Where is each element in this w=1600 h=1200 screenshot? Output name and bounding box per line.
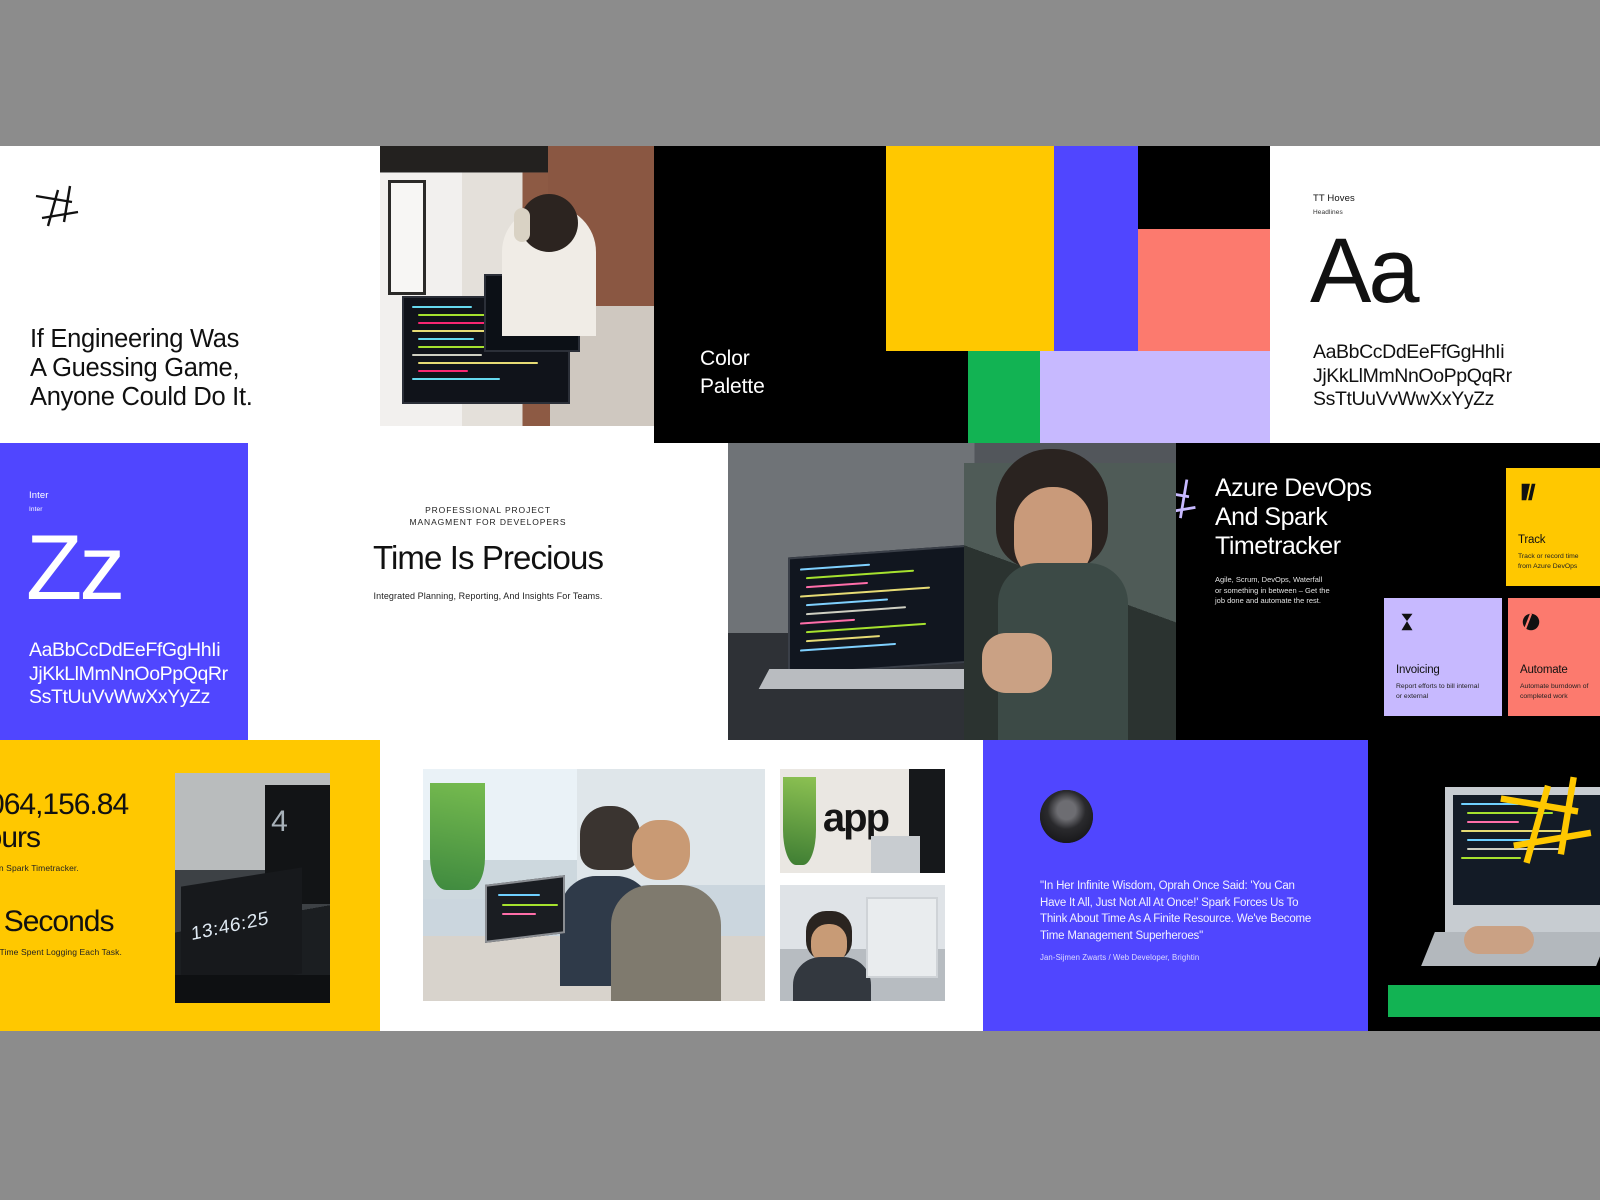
eyebrow-line-2: MANAGMENT FOR DEVELOPERS xyxy=(338,517,638,529)
stat-caption-hours: Logged In Spark Timetracker. xyxy=(0,863,195,873)
photo-man-imac xyxy=(780,885,945,1001)
photo-laptop-developer xyxy=(728,443,1176,740)
azure-title-line-1: Azure DevOps xyxy=(1215,474,1465,503)
photo-office xyxy=(380,146,654,443)
feature-card-desc: Report efforts to bill internal or exter… xyxy=(1396,682,1490,701)
eyebrow-line-1: PROFESSIONAL PROJECT xyxy=(338,505,638,517)
feature-card-desc: Automate burndown of completed work xyxy=(1520,682,1600,701)
time-is-precious-panel: PROFESSIONAL PROJECT MANAGMENT FOR DEVEL… xyxy=(248,443,728,740)
app-wall-text: app xyxy=(823,796,888,841)
avatar xyxy=(1040,790,1093,843)
swatch-yellow xyxy=(886,146,1054,351)
typography-panel-hoves: TT Hoves Headlines Aa AaBbCcDdEeFfGgHhIi… xyxy=(1270,146,1600,443)
headline-panel: If Engineering Was A Guessing Game, Anyo… xyxy=(0,146,380,443)
palette-title-line-1: Color xyxy=(700,345,765,373)
font-specimen: Aa xyxy=(1310,228,1417,314)
font-specimen: Zz xyxy=(26,525,122,611)
stat-seconds-unit: Seconds xyxy=(4,905,114,938)
track-slash-icon xyxy=(1518,481,1540,503)
headline-line-2: A Guessing Game, xyxy=(30,354,360,383)
color-palette-panel: Color Palette xyxy=(654,146,1270,443)
stat-unit-hours: Hours xyxy=(0,821,195,854)
section-subtitle: Integrated Planning, Reporting, And Insi… xyxy=(338,591,638,601)
feature-card-title: Track xyxy=(1518,534,1600,546)
page-title: If Engineering Was A Guessing Game, Anyo… xyxy=(30,325,360,412)
spark-asterisk-logo-lavender xyxy=(1176,471,1204,531)
font-name: Inter xyxy=(29,490,49,501)
font-usage: Headlines xyxy=(1313,209,1355,216)
azure-title-line-3: Timetracker xyxy=(1215,532,1465,561)
palette-title: Color Palette xyxy=(700,345,765,401)
feature-card-track[interactable]: Track Track or record time from Azure De… xyxy=(1506,468,1600,586)
palette-title-line-2: Palette xyxy=(700,373,765,401)
headline-line-1: If Engineering Was xyxy=(30,325,360,354)
feature-card-invoicing[interactable]: Invoicing Report efforts to bill interna… xyxy=(1384,598,1502,716)
testimonial-quote: "In Her Infinite Wisdom, Oprah Once Said… xyxy=(1040,878,1320,944)
swatch-coral xyxy=(1138,229,1270,351)
feature-card-title: Automate xyxy=(1520,664,1600,676)
photo-app-sign: app xyxy=(780,769,945,873)
feature-card-automate[interactable]: Automate Automate burndown of completed … xyxy=(1508,598,1600,716)
feature-card-desc: Track or record time from Azure DevOps xyxy=(1518,552,1600,571)
typography-panel-inter: Inter Inter Zz AaBbCcDdEeFfGgHhIi JjKkLl… xyxy=(0,443,248,740)
swatch-black xyxy=(1138,146,1270,229)
automate-circle-icon xyxy=(1520,611,1542,633)
font-usage: Inter xyxy=(29,506,49,513)
alphabet-row-2: JjKkLlMmNnOoPpQqRr xyxy=(29,663,228,687)
alphabet-row-1: AaBbCcDdEeFfGgHhIi xyxy=(1313,341,1512,365)
azure-body-line-2: or something in between – Get the xyxy=(1215,586,1415,597)
testimonial-panel: "In Her Infinite Wisdom, Oprah Once Said… xyxy=(983,740,1368,1031)
stat-number-hours: 1,064,156.84 xyxy=(0,788,195,821)
brand-style-guide-board: If Engineering Was A Guessing Game, Anyo… xyxy=(0,146,1600,1031)
photo-clock-display: 4 13:46:25 xyxy=(175,773,330,1003)
photo-gallery-panel: app xyxy=(380,740,983,1031)
feature-card-title: Invoicing xyxy=(1396,664,1490,676)
azure-devops-panel: Azure DevOps And Spark Timetracker Agile… xyxy=(1176,443,1600,740)
alphabet-row-2: JjKkLlMmNnOoPpQqRr xyxy=(1313,365,1512,389)
swatch-indigo xyxy=(1054,146,1138,351)
swatch-green xyxy=(968,351,1040,443)
photo-team xyxy=(423,769,765,1001)
swatch-lavender xyxy=(1040,351,1270,443)
alphabet-row-1: AaBbCcDdEeFfGgHhIi xyxy=(29,639,228,663)
alphabet-row-3: SsTtUuVvWwXxYyZz xyxy=(1313,388,1512,412)
invoicing-hourglass-icon xyxy=(1396,611,1418,633)
headline-line-3: Anyone Could Do It. xyxy=(30,383,360,412)
section-title: Time Is Precious xyxy=(338,539,638,577)
azure-body-line-1: Agile, Scrum, DevOps, Waterfall xyxy=(1215,575,1415,586)
azure-title-line-2: And Spark xyxy=(1215,503,1465,532)
stats-panel: 1,064,156.84 Hours Logged In Spark Timet… xyxy=(0,740,380,1031)
testimonial-attribution: Jan-Sijmen Zwarts / Web Developer, Brigh… xyxy=(1040,953,1199,962)
font-name: TT Hoves xyxy=(1313,193,1355,204)
alphabet-row-3: SsTtUuVvWwXxYyZz xyxy=(29,686,228,710)
spark-asterisk-logo-yellow xyxy=(1488,760,1600,880)
spark-asterisk-logo xyxy=(30,178,86,234)
photo-final-laptop xyxy=(1368,740,1600,1031)
azure-title: Azure DevOps And Spark Timetracker xyxy=(1215,474,1465,561)
